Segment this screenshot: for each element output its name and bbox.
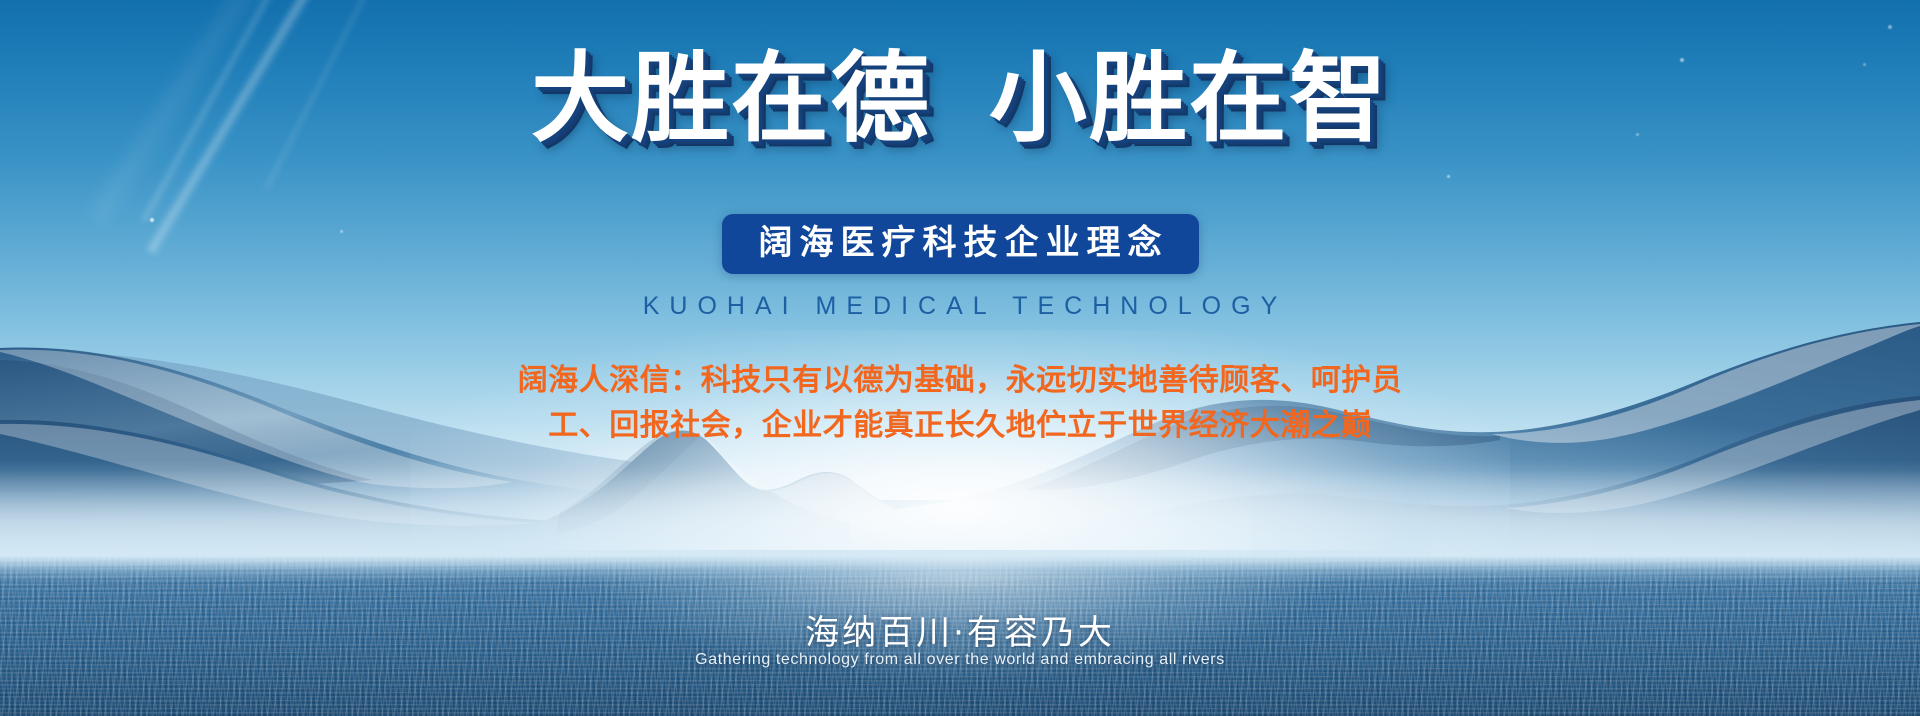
banner-content: 大胜在德小胜在智 阔海医疗科技企业理念 KUOHAI MEDICAL TECHN… xyxy=(0,0,1920,716)
statement-line-1: 阔海人深信：科技只有以德为基础，永远切实地善待顾客、呵护员 xyxy=(0,358,1920,403)
badge-container: 阔海医疗科技企业理念 xyxy=(0,214,1920,274)
status-badge: 阔海医疗科技企业理念 xyxy=(722,214,1199,274)
headline-part-1: 大胜在德 xyxy=(531,42,931,156)
headline-part-2: 小胜在智 xyxy=(989,42,1389,156)
statement-line-2: 工、回报社会，企业才能真正长久地伫立于世界经济大潮之巅 xyxy=(0,403,1920,448)
page-title: 大胜在德小胜在智 xyxy=(0,48,1920,152)
banner-stage: 大胜在德小胜在智 阔海医疗科技企业理念 KUOHAI MEDICAL TECHN… xyxy=(0,0,1920,716)
footer-slogan-cn: 海纳百川·有容乃大 xyxy=(0,605,1920,654)
philosophy-statement: 阔海人深信：科技只有以德为基础，永远切实地善待顾客、呵护员 工、回报社会，企业才… xyxy=(0,358,1920,448)
footer-slogan-en: Gathering technology from all over the w… xyxy=(0,651,1920,669)
subtitle-english: KUOHAI MEDICAL TECHNOLOGY xyxy=(0,292,1920,321)
